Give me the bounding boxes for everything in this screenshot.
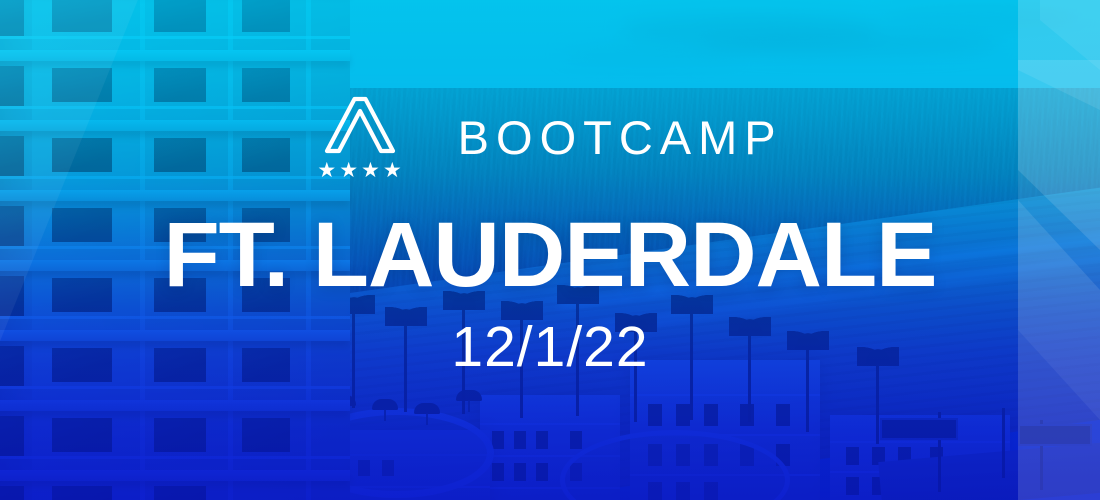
brand-wordmark: BOOTCAMP <box>458 114 783 161</box>
banner-content: ★ ★ ★ ★ BOOTCAMP FT. LAUDERDALE 12/1/22 <box>0 0 1100 500</box>
peaked-a-tent-icon <box>324 94 396 156</box>
star-icon: ★ <box>317 160 336 181</box>
brand-logo: ★ ★ ★ ★ <box>317 94 401 181</box>
event-headline: FT. LAUDERDALE <box>163 209 936 301</box>
star-icon: ★ <box>339 160 358 181</box>
event-banner: ★ ★ ★ ★ BOOTCAMP FT. LAUDERDALE 12/1/22 <box>0 0 1100 500</box>
brand-lockup: ★ ★ ★ ★ BOOTCAMP <box>317 94 782 181</box>
star-rating: ★ ★ ★ ★ <box>317 160 401 181</box>
event-date: 12/1/22 <box>451 319 648 376</box>
star-icon: ★ <box>361 160 380 181</box>
star-icon: ★ <box>383 160 402 181</box>
